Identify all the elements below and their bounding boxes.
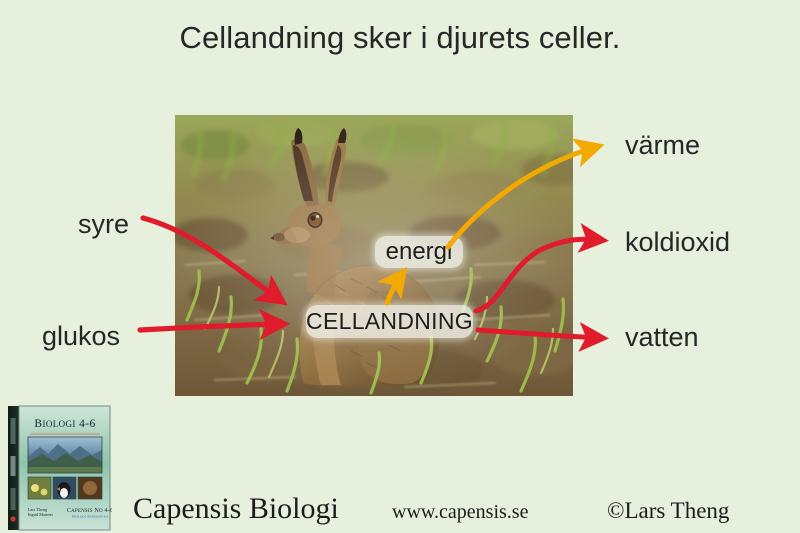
svg-text:Ingrid Martens: Ingrid Martens (28, 512, 53, 517)
footer-url: www.capensis.se (392, 500, 528, 524)
svg-text:BIOLOGI ÅRSKURS 4-6: BIOLOGI ÅRSKURS 4-6 (72, 514, 108, 519)
label-varme: värme (625, 129, 700, 161)
svg-text:CAPENSIS NO 4-6: CAPENSIS NO 4-6 (67, 508, 112, 514)
slide-canvas: Cellandning sker i djurets celler. (0, 0, 800, 533)
footer-brand: Capensis Biologi (133, 492, 339, 526)
energi-label-box: energi (375, 236, 463, 268)
svg-text:BIOLOGI 4-6: BIOLOGI 4-6 (34, 418, 95, 430)
label-syre: syre (78, 208, 129, 240)
page-title: Cellandning sker i djurets celler. (0, 18, 800, 58)
label-koldioxid: koldioxid (625, 226, 730, 258)
brown-hare-in-field-photo (175, 115, 573, 396)
label-vatten: vatten (625, 321, 699, 353)
book-cover-thumbnail: BIOLOGI 4-6 Lars Theng Ingrid Marten (8, 404, 112, 532)
label-glukos: glukos (42, 320, 120, 352)
footer-copyright: ©Lars Theng (607, 497, 729, 524)
cellandning-label-box: CELLANDNING (306, 305, 473, 338)
